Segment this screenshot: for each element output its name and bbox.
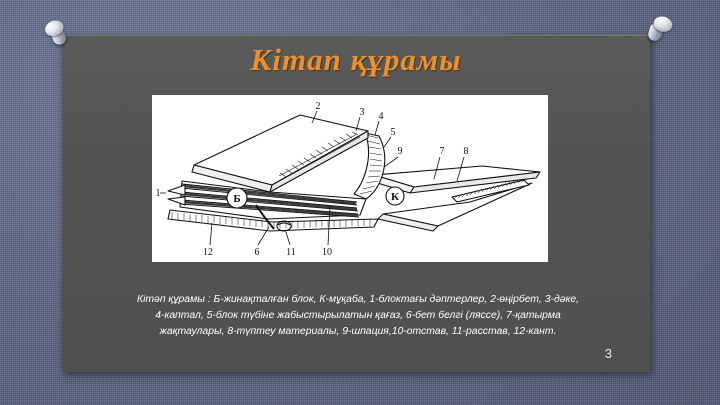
svg-text:8: 8	[464, 146, 469, 157]
caption-line-1: Кітәп құрамы : Б-жинақталған блок, К-мұқ…	[80, 292, 636, 308]
svg-text:11: 11	[286, 247, 296, 258]
svg-text:10: 10	[322, 247, 332, 258]
svg-text:9: 9	[398, 146, 403, 157]
caption-line-3: жақтаулары, 8-түптеу материалы, 9-шпация…	[80, 324, 636, 340]
svg-text:1: 1	[156, 188, 161, 199]
caption-line-2: 4-каптал, 5-блок түбіне жабыстырылатын қ…	[80, 308, 636, 324]
svg-text:4: 4	[379, 111, 384, 122]
svg-text:5: 5	[391, 127, 396, 138]
svg-text:6: 6	[255, 247, 260, 258]
slide-caption: Кітәп құрамы : Б-жинақталған блок, К-мұқ…	[80, 292, 636, 339]
book-structure-svg: 2 3 4 5 9 7 8 1 12 6 11 10 Б К	[152, 95, 548, 262]
pushpin-head	[652, 14, 674, 34]
board-top-highlight	[62, 34, 650, 36]
page-number: 3	[605, 346, 612, 361]
svg-text:К: К	[391, 191, 399, 203]
svg-text:Б: Б	[233, 193, 240, 205]
svg-text:2: 2	[316, 101, 321, 112]
slide: Кітап құрамы	[0, 0, 720, 405]
book-structure-diagram: 2 3 4 5 9 7 8 1 12 6 11 10 Б К	[152, 95, 548, 262]
page-title: Кітап құрамы	[62, 42, 650, 78]
svg-text:7: 7	[440, 146, 445, 157]
content-board: Кітап құрамы	[62, 34, 650, 372]
svg-text:3: 3	[360, 107, 365, 118]
svg-text:12: 12	[203, 247, 213, 258]
